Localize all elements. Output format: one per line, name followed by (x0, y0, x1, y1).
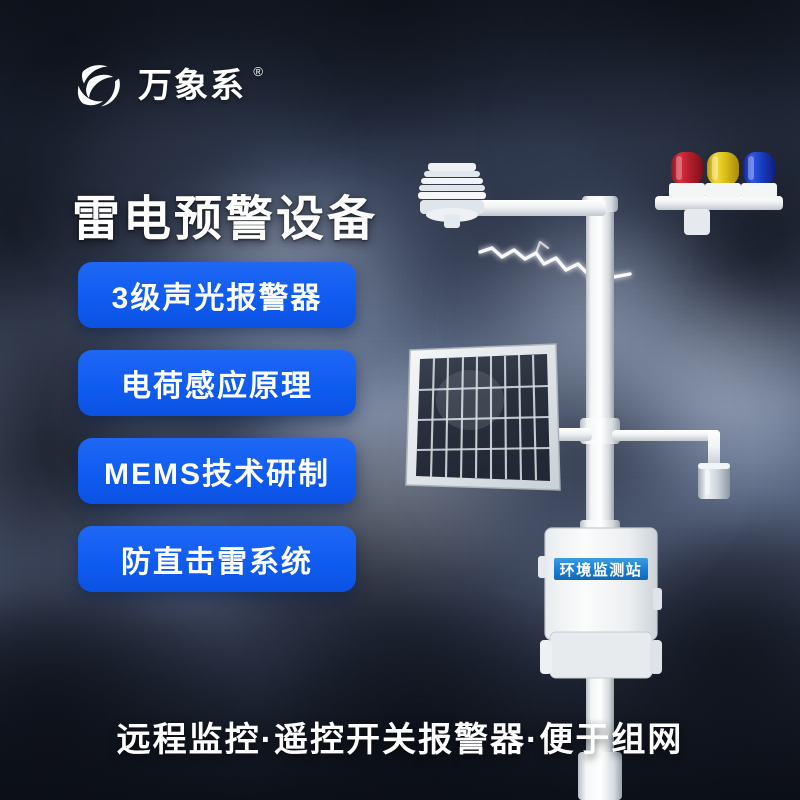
feature-pill-4[interactable]: 防直击雷系统 (78, 526, 356, 592)
brand-logo[interactable]: 万象系 ® (72, 58, 246, 114)
station-label-sticker: 环境监测站 (554, 558, 648, 580)
strapline: 远程监控·遥控开关报警器·便于组网 (0, 712, 800, 761)
feature-pill-3[interactable]: MEMS技术研制 (78, 438, 356, 504)
controller-enclosure (538, 528, 662, 678)
feature-pill-1[interactable]: 3级声光报警器 (78, 262, 356, 328)
hanging-cylinder-sensor (698, 463, 730, 499)
page-title: 雷电预警设备 (72, 192, 378, 248)
promo-banner: 环境监测站 万象系 ® 雷电预警设备 3级声光报警器 电荷感应原理 MEMS技术… (0, 0, 800, 800)
station-label-text: 环境监测站 (560, 561, 643, 579)
feature-pill-list: 3级声光报警器 电荷感应原理 MEMS技术研制 防直击雷系统 (78, 262, 356, 592)
brand-name-text: 万象系 ® (138, 69, 246, 103)
swirl-globe-logo-icon (72, 58, 128, 114)
radiation-shield-sensor (418, 163, 486, 228)
mast-pole (578, 196, 622, 800)
feature-pill-2[interactable]: 电荷感应原理 (78, 350, 356, 416)
yellow-alarm-light (705, 152, 741, 198)
right-arm-sensor-assembly (612, 430, 730, 499)
blue-alarm-light (741, 152, 777, 198)
registered-mark: ® (253, 65, 263, 78)
brand-name: 万象系 (138, 67, 246, 105)
red-alarm-light (669, 152, 705, 198)
alarm-light-assembly (655, 152, 783, 235)
solar-panel (406, 344, 560, 490)
